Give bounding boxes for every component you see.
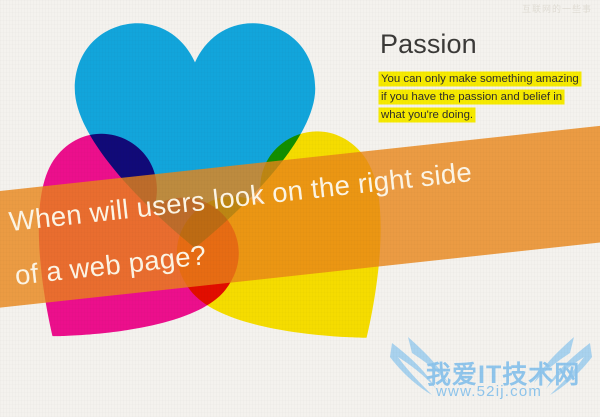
passion-body-line-1: You can only make something amazing [380,73,580,85]
passion-body-line-2: if you have the passion and belief in [380,91,563,103]
passion-heading: Passion [380,30,592,58]
top-watermark: 互联网的一些事 [522,2,592,15]
passion-text-block: Passion You can only make something amaz… [380,30,592,124]
passion-body-line-3: what you're doing. [380,109,474,121]
slide-canvas: Passion You can only make something amaz… [0,0,600,417]
brand-watermark: 我爱IT技术网 www.52ij.com [388,333,594,413]
passion-body-text: You can only make something amazing if y… [380,70,592,124]
brand-url-text: www.52ij.com [436,383,542,400]
